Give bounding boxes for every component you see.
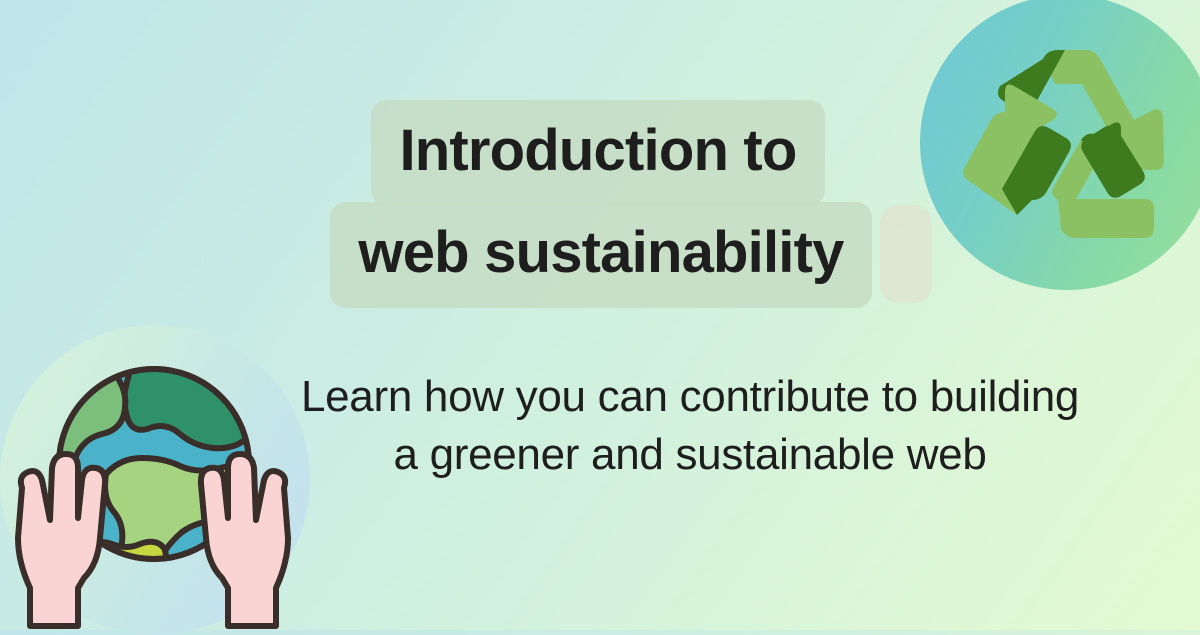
title-line-2-text: web sustainability	[330, 202, 871, 308]
page-title: Introduction to web sustainability	[0, 100, 1200, 308]
banner-canvas: Introduction to web sustainability Learn…	[0, 0, 1200, 630]
title-line-1-text: Introduction to	[371, 100, 824, 206]
globe-in-hands-icon	[8, 352, 298, 630]
title-line-1: Introduction to	[0, 100, 1200, 206]
page-subtitle: Learn how you can contribute to building…	[300, 368, 1080, 484]
title-line-2: web sustainability	[2, 202, 1200, 308]
